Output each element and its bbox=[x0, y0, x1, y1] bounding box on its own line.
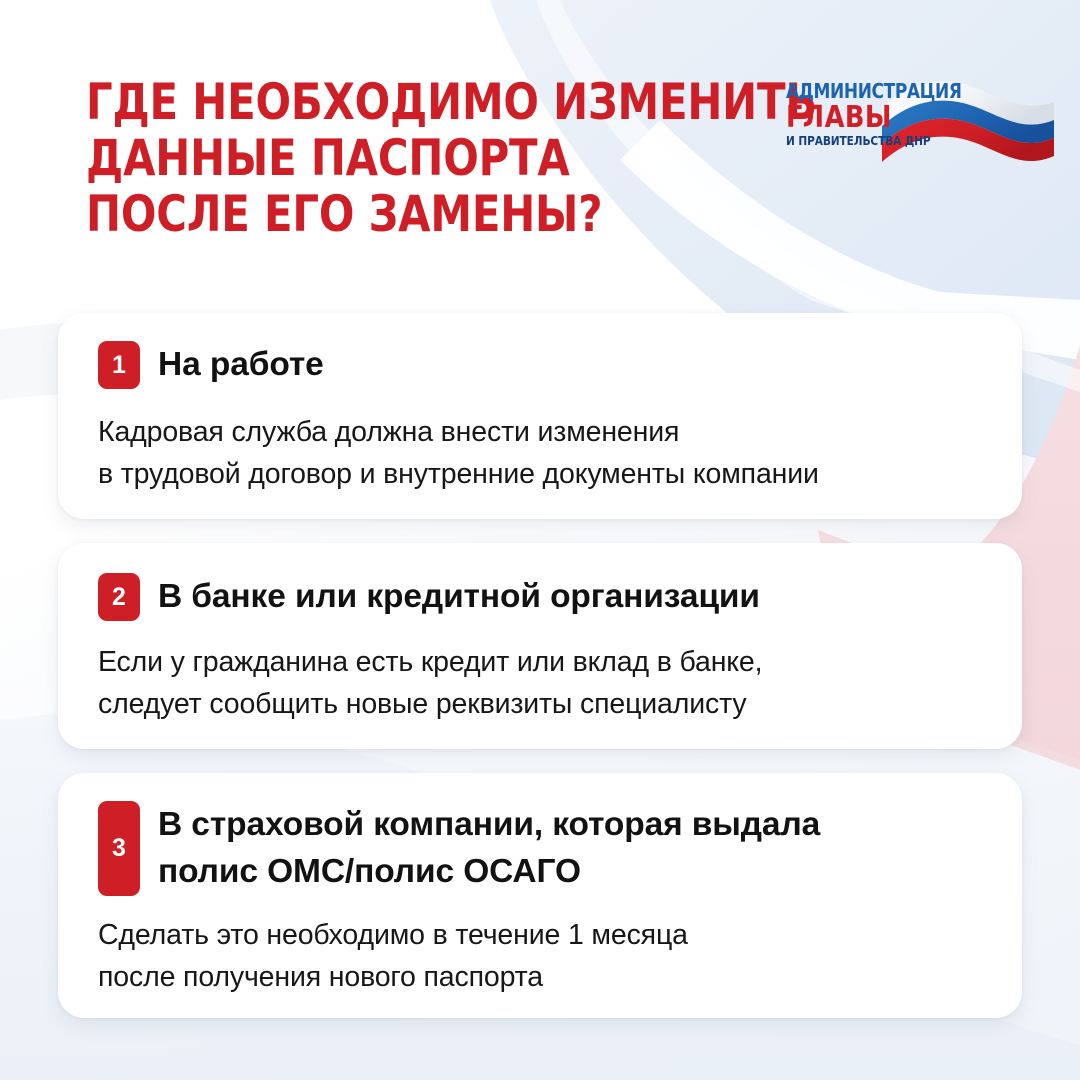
card-3-number-badge: 3 bbox=[98, 801, 140, 896]
card-item-1: 1 На работе Кадровая служба должна внест… bbox=[58, 313, 1022, 519]
card-1-body-line-2: в трудовой договор и внутренние документ… bbox=[98, 453, 982, 495]
card-3-body-line-1: Сделать это необходимо в течение 1 месяц… bbox=[98, 914, 982, 956]
card-2-heading: В банке или кредитной организации bbox=[158, 573, 760, 618]
card-1-body-line-1: Кадровая служба должна внести изменения bbox=[98, 411, 982, 453]
card-item-3: 3 В страховой компании, которая выдала п… bbox=[58, 773, 1022, 1018]
title-line-1: Где необходимо изменить bbox=[86, 74, 737, 130]
card-2-number-badge: 2 bbox=[98, 573, 140, 621]
card-1-number-badge: 1 bbox=[98, 341, 140, 389]
logo-line-administration: Администрация bbox=[786, 80, 942, 102]
card-3-heading-line-2: полис ОМС/полис ОСАГО bbox=[158, 848, 820, 895]
card-1-heading-line-1: На работе bbox=[158, 344, 324, 386]
card-3-heading-row: 3 В страховой компании, которая выдала п… bbox=[98, 801, 982, 896]
title-line-2: данные паспорта bbox=[86, 130, 737, 186]
card-3-heading: В страховой компании, которая выдала пол… bbox=[158, 801, 820, 895]
card-3-heading-line-1: В страховой компании, которая выдала bbox=[158, 801, 820, 848]
cards-list: 1 На работе Кадровая служба должна внест… bbox=[58, 313, 1022, 1042]
title-line-3: после его замены? bbox=[86, 186, 737, 242]
card-2-body: Если у гражданина есть кредит или вклад … bbox=[98, 641, 982, 725]
card-item-2: 2 В банке или кредитной организации Если… bbox=[58, 543, 1022, 749]
logo-text: Администрация Главы и Правительства ДНР bbox=[786, 80, 956, 149]
infographic-canvas: Где необходимо изменить данные паспорта … bbox=[0, 0, 1080, 1080]
card-2-body-line-1: Если у гражданина есть кредит или вклад … bbox=[98, 641, 982, 683]
page-title: Где необходимо изменить данные паспорта … bbox=[86, 74, 737, 242]
card-2-heading-line-1: В банке или кредитной организации bbox=[158, 576, 760, 618]
card-3-body-line-2: после получения нового паспорта bbox=[98, 956, 982, 998]
logo-line-government: и Правительства ДНР bbox=[786, 133, 946, 149]
card-2-body-line-2: следует сообщить новые реквизиты специал… bbox=[98, 683, 982, 725]
card-1-heading-row: 1 На работе bbox=[98, 341, 982, 389]
government-logo: Администрация Главы и Правительства ДНР bbox=[786, 80, 1056, 180]
logo-line-head: Главы bbox=[786, 102, 948, 133]
card-1-body: Кадровая служба должна внести изменения … bbox=[98, 411, 982, 495]
header: Где необходимо изменить данные паспорта … bbox=[0, 0, 1080, 300]
card-2-heading-row: 2 В банке или кредитной организации bbox=[98, 573, 982, 621]
card-3-body: Сделать это необходимо в течение 1 месяц… bbox=[98, 914, 982, 998]
card-1-heading: На работе bbox=[158, 341, 324, 386]
